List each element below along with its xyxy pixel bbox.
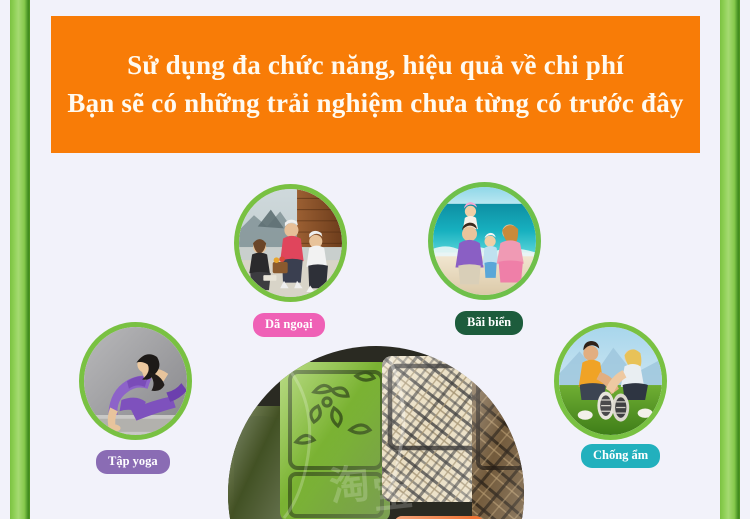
badge-yoga[interactable]: Tập yoga xyxy=(96,450,170,474)
badge-damp-proof[interactable]: Chống ẩm xyxy=(581,444,660,468)
picnic-photo xyxy=(239,189,342,297)
svg-text:淘: 淘 xyxy=(327,461,372,511)
beach-photo xyxy=(433,187,536,295)
headline-line-1: Sử dụng đa chức năng, hiệu quả về chi ph… xyxy=(127,49,624,83)
beach-photo-card xyxy=(428,182,541,300)
svg-text:宝: 宝 xyxy=(370,468,415,518)
green-frame-bar-right xyxy=(720,0,740,519)
picnic-photo-card xyxy=(234,184,347,302)
badge-picnic[interactable]: Dã ngoại xyxy=(253,313,325,337)
headline-banner: Sử dụng đa chức năng, hiệu quả về chi ph… xyxy=(51,16,700,153)
picnic-mat-stack-photo: 淘 宝 淘 宝 xyxy=(228,346,524,519)
outdoor-couple-photo-card xyxy=(554,322,667,440)
headline-line-2: Bạn sẽ có những trải nghiệm chưa từng có… xyxy=(67,87,683,121)
outdoor-couple-photo xyxy=(559,327,662,435)
promo-page: Sử dụng đa chức năng, hiệu quả về chi ph… xyxy=(0,0,750,519)
badge-beach[interactable]: Bãi biển xyxy=(455,311,523,335)
yoga-photo-card xyxy=(79,322,192,440)
yoga-photo xyxy=(84,327,187,435)
green-frame-bar-left xyxy=(10,0,30,519)
